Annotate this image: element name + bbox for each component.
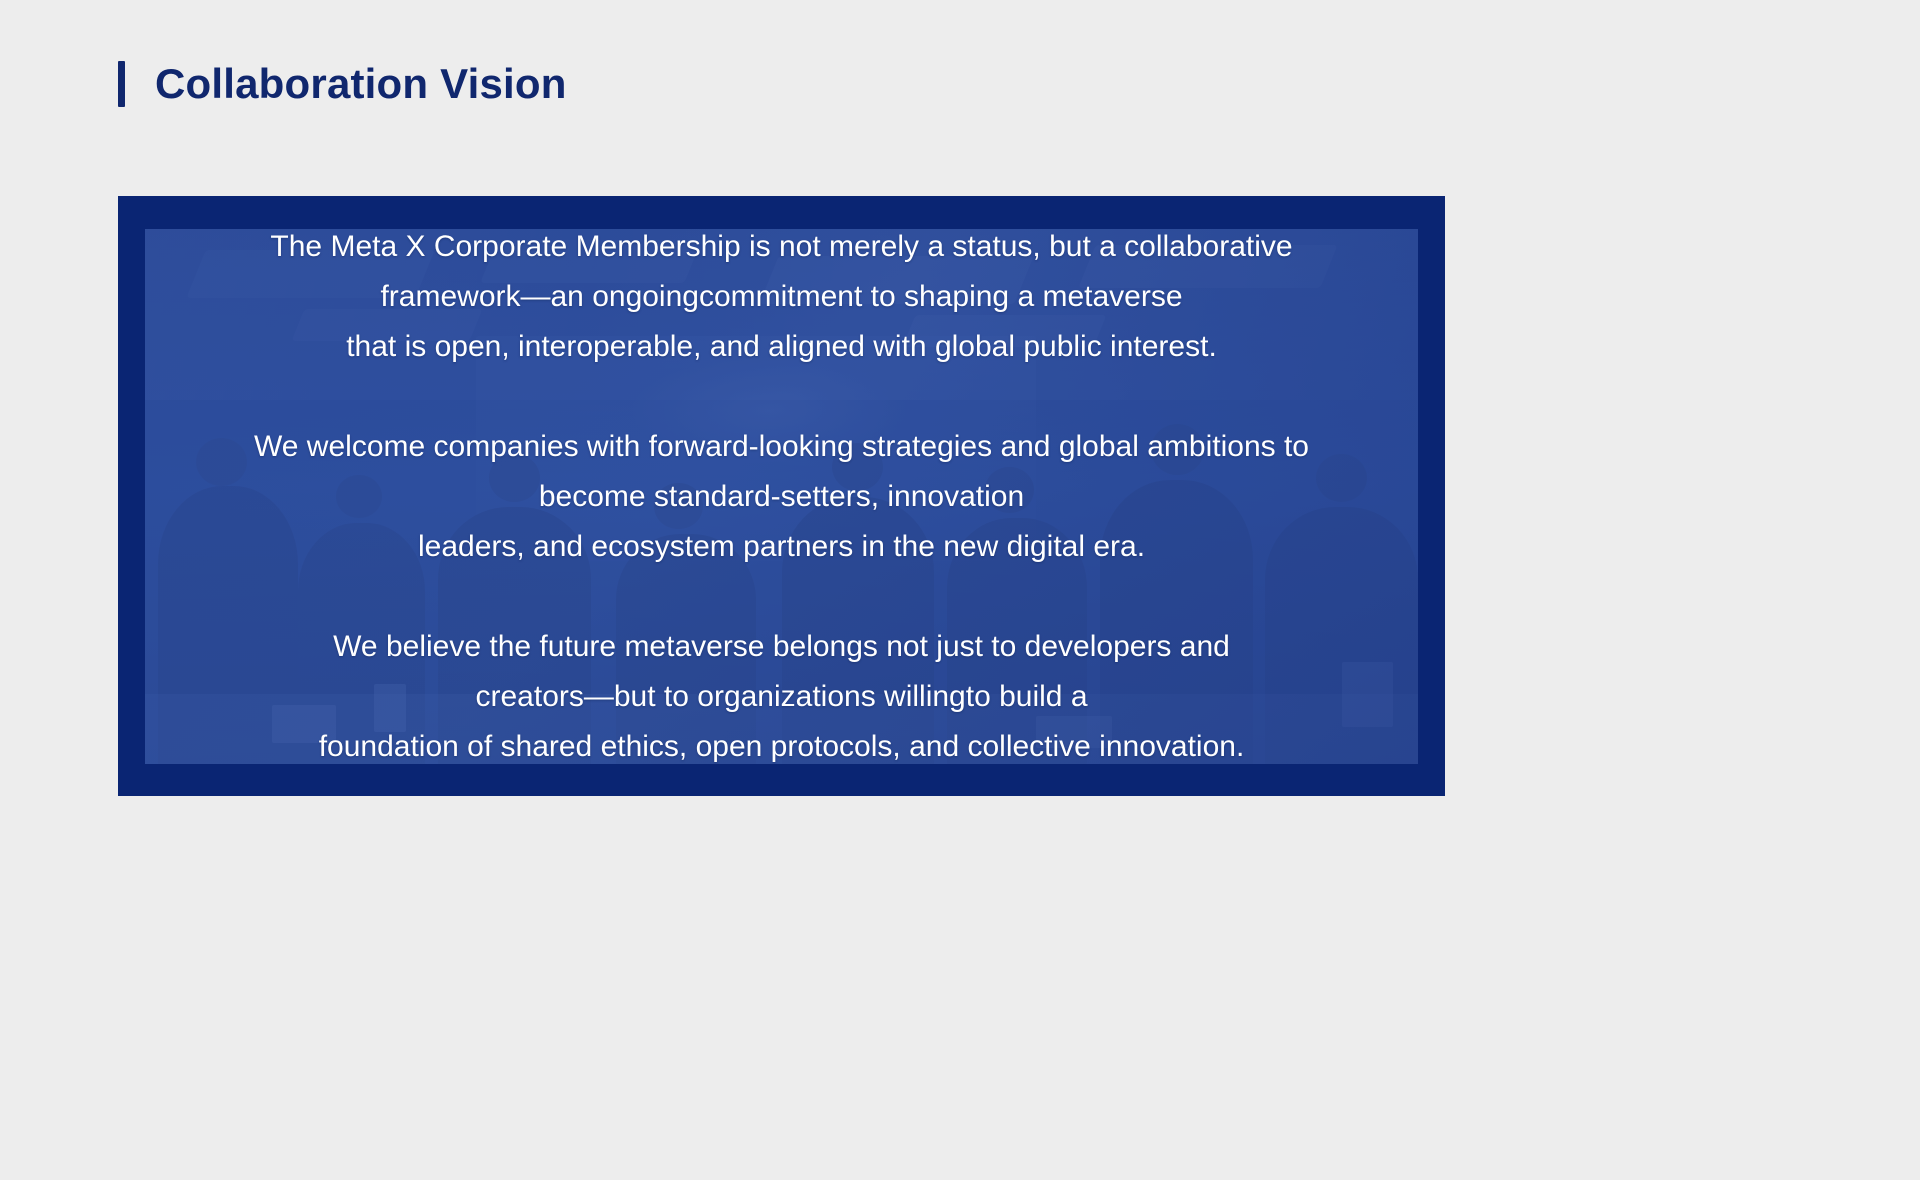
- paragraph-2: We welcome companies with forward-lookin…: [165, 422, 1398, 572]
- panel-text-block: The Meta X Corporate Membership is not m…: [145, 229, 1418, 764]
- paragraph-1: The Meta X Corporate Membership is not m…: [165, 229, 1398, 372]
- content-panel-inner: The Meta X Corporate Membership is not m…: [145, 229, 1418, 764]
- content-panel-frame: The Meta X Corporate Membership is not m…: [118, 196, 1445, 796]
- paragraph-3: We believe the future metaverse belongs …: [165, 622, 1398, 765]
- page-title: Collaboration Vision: [118, 60, 567, 108]
- title-text: Collaboration Vision: [155, 60, 567, 108]
- slide-root: Collaboration Vision: [0, 0, 1920, 1180]
- title-accent-bar: [118, 61, 125, 107]
